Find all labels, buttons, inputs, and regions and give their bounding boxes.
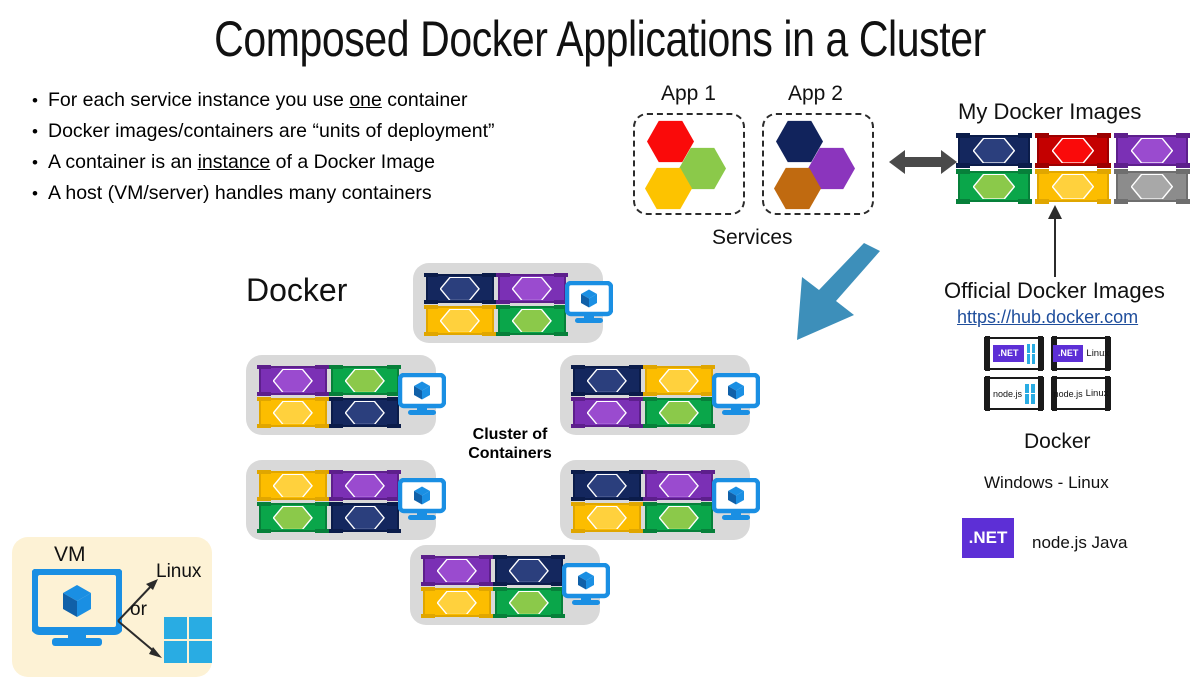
host-monitor-icon bbox=[562, 563, 610, 607]
container-tile-yellow bbox=[423, 588, 491, 617]
image-tile-navy bbox=[958, 135, 1030, 166]
container-hex-icon bbox=[512, 277, 551, 301]
tile-frame-bar bbox=[1038, 376, 1043, 411]
tile-corner bbox=[571, 470, 585, 475]
container-hex-icon bbox=[1052, 174, 1094, 199]
vm-card: VM Linux or bbox=[12, 537, 212, 677]
list-item: • For each service instance you use one … bbox=[22, 88, 622, 113]
tile-content: node.js bbox=[993, 385, 1035, 402]
vm-linux-label: Linux bbox=[156, 561, 201, 583]
container-hex-icon bbox=[973, 174, 1015, 199]
tile-corner bbox=[643, 397, 657, 402]
tile-corner bbox=[315, 424, 329, 429]
container-hex-icon bbox=[587, 401, 626, 425]
docker-cluster-label: Docker bbox=[246, 272, 347, 309]
tile-corner bbox=[387, 424, 401, 429]
container-hex-icon bbox=[659, 474, 698, 498]
bullet-text: A host (VM/server) handles many containe… bbox=[48, 181, 622, 206]
container-tile-purple bbox=[423, 556, 491, 585]
cluster-node-left-upper[interactable] bbox=[246, 355, 436, 435]
tile-corner bbox=[329, 397, 343, 402]
my-docker-images-grid bbox=[958, 135, 1188, 203]
tile-corner bbox=[1097, 163, 1111, 168]
bullet-text: Docker images/containers are “units of d… bbox=[48, 119, 622, 144]
tile-corner bbox=[1176, 169, 1190, 174]
docker-hub-link[interactable]: https://hub.docker.com bbox=[957, 307, 1138, 328]
tile-corner bbox=[701, 470, 715, 475]
service-hex-brown bbox=[774, 167, 821, 210]
list-item: • A host (VM/server) handles many contai… bbox=[22, 181, 622, 206]
host-monitor-icon bbox=[398, 373, 446, 417]
tile-corner bbox=[1018, 133, 1032, 138]
tile-corner bbox=[421, 614, 435, 619]
tile-corner bbox=[571, 365, 585, 370]
container-hex-icon bbox=[1131, 174, 1173, 199]
container-hex-icon bbox=[509, 591, 548, 615]
tile-corner bbox=[1176, 133, 1190, 138]
tile-corner bbox=[629, 502, 643, 507]
tile-corner bbox=[493, 587, 507, 592]
tile-corner bbox=[257, 502, 271, 507]
tile-corner bbox=[387, 470, 401, 475]
windows-logo-icon bbox=[1025, 384, 1035, 404]
page-title: Composed Docker Applications in a Cluste… bbox=[108, 10, 1092, 68]
tile-corner bbox=[643, 470, 657, 475]
container-tile-green bbox=[645, 398, 713, 427]
tile-corner bbox=[387, 365, 401, 370]
container-tile-navy bbox=[426, 274, 494, 303]
container-tile-navy bbox=[573, 366, 641, 395]
bullet-dot-icon: • bbox=[22, 119, 48, 144]
tile-corner bbox=[571, 502, 585, 507]
container-hex-icon bbox=[659, 401, 698, 425]
container-tile-navy bbox=[495, 556, 563, 585]
app2-service-box bbox=[762, 113, 874, 215]
tile-corner bbox=[1097, 133, 1111, 138]
tile-corner bbox=[629, 470, 643, 475]
container-hex-icon bbox=[587, 474, 626, 498]
cluster-label-line1: Cluster of bbox=[450, 425, 570, 444]
tile-corner bbox=[1018, 169, 1032, 174]
tile-corner bbox=[479, 587, 493, 592]
tile-corner bbox=[1114, 169, 1128, 174]
linux-label: Linux bbox=[1086, 388, 1109, 399]
container-hex-icon bbox=[587, 506, 626, 530]
bullet-text: For each service instance you use one co… bbox=[48, 88, 622, 113]
tile-corner bbox=[1176, 163, 1190, 168]
tile-corner bbox=[571, 424, 585, 429]
container-hex-icon bbox=[273, 474, 312, 498]
container-hex-icon bbox=[437, 559, 476, 583]
tile-corner bbox=[482, 332, 496, 337]
tile-corner bbox=[554, 332, 568, 337]
container-tile-yellow bbox=[645, 366, 713, 395]
cluster-node-bottom[interactable] bbox=[410, 545, 600, 625]
tile-corner bbox=[257, 397, 271, 402]
official-tile-node-windows: node.js bbox=[984, 377, 1044, 410]
big-blue-arrow-icon bbox=[788, 243, 883, 348]
tile-corner bbox=[315, 397, 329, 402]
tile-corner bbox=[424, 305, 438, 310]
list-item: • A container is an instance of a Docker… bbox=[22, 150, 622, 175]
docker-label-right: Docker bbox=[1024, 430, 1091, 454]
cluster-node-top[interactable] bbox=[413, 263, 603, 343]
os-line-label: Windows - Linux bbox=[984, 473, 1109, 493]
dotnet-badge: .NET bbox=[962, 518, 1014, 558]
tile-corner bbox=[315, 529, 329, 534]
tile-frame-bar bbox=[985, 376, 990, 411]
tile-corner bbox=[479, 555, 493, 560]
tile-corner bbox=[482, 305, 496, 310]
stack-line-label: node.js Java bbox=[1032, 533, 1127, 553]
tile-frame-bar bbox=[1038, 336, 1043, 371]
tile-corner bbox=[1035, 169, 1049, 174]
container-tile-yellow bbox=[259, 398, 327, 427]
nodejs-label: node.js bbox=[1054, 389, 1083, 399]
up-arrow-icon bbox=[1044, 205, 1066, 277]
windows-logo-icon bbox=[1027, 344, 1035, 364]
tile-corner bbox=[643, 365, 657, 370]
tile-corner bbox=[1097, 199, 1111, 204]
app2-label: App 2 bbox=[788, 82, 843, 106]
tile-corner bbox=[554, 273, 568, 278]
tile-corner bbox=[329, 365, 343, 370]
container-tile-yellow bbox=[573, 503, 641, 532]
windows-logo-icon bbox=[164, 617, 212, 663]
container-tile-navy bbox=[331, 398, 399, 427]
image-tile-red bbox=[1037, 135, 1109, 166]
tile-corner bbox=[629, 529, 643, 534]
tile-content: .NETLinux bbox=[1060, 345, 1102, 362]
dotnet-badge-small: .NET bbox=[1053, 345, 1084, 362]
tile-corner bbox=[1035, 199, 1049, 204]
tile-corner bbox=[643, 502, 657, 507]
official-docker-images-title: Official Docker Images bbox=[944, 278, 1165, 304]
my-docker-images-title: My Docker Images bbox=[958, 99, 1141, 125]
image-tile-purple bbox=[1116, 135, 1188, 166]
container-hex-icon bbox=[1131, 138, 1173, 163]
tile-corner bbox=[571, 529, 585, 534]
tile-corner bbox=[387, 529, 401, 534]
tile-corner bbox=[421, 587, 435, 592]
tile-corner bbox=[257, 529, 271, 534]
container-hex-icon bbox=[273, 506, 312, 530]
tile-corner bbox=[493, 555, 507, 560]
image-tile-yellow bbox=[1037, 171, 1109, 202]
tile-corner bbox=[629, 397, 643, 402]
tile-content: node.jsLinux bbox=[1060, 385, 1102, 402]
container-hex-icon bbox=[437, 591, 476, 615]
tile-corner bbox=[421, 555, 435, 560]
tile-corner bbox=[1097, 169, 1111, 174]
official-tile-node-linux: node.jsLinux bbox=[1051, 377, 1111, 410]
tile-corner bbox=[956, 163, 970, 168]
container-tile-navy bbox=[331, 503, 399, 532]
tile-corner bbox=[571, 397, 585, 402]
services-caption: Services bbox=[712, 226, 793, 250]
app1-label: App 1 bbox=[661, 82, 716, 106]
container-hex-icon bbox=[273, 401, 312, 425]
official-images-grid: .NET.NETLinuxnode.jsnode.jsLinux bbox=[984, 337, 1109, 411]
tile-corner bbox=[257, 470, 271, 475]
container-tile-yellow bbox=[259, 471, 327, 500]
container-tile-purple bbox=[331, 471, 399, 500]
tile-corner bbox=[424, 273, 438, 278]
tile-corner bbox=[1018, 199, 1032, 204]
tile-corner bbox=[956, 133, 970, 138]
container-tile-green bbox=[498, 306, 566, 335]
tile-frame-bar bbox=[985, 336, 990, 371]
tile-corner bbox=[329, 470, 343, 475]
tile-corner bbox=[424, 332, 438, 337]
bidirectional-arrow-icon bbox=[889, 147, 957, 177]
vm-label: VM bbox=[54, 543, 86, 567]
tile-corner bbox=[315, 365, 329, 370]
cluster-center-label: Cluster of Containers bbox=[450, 425, 570, 463]
image-tile-gray bbox=[1116, 171, 1188, 202]
host-monitor-icon bbox=[712, 373, 760, 417]
tile-corner bbox=[956, 169, 970, 174]
container-tile-green bbox=[331, 366, 399, 395]
container-hex-icon bbox=[659, 369, 698, 393]
nodejs-label: node.js bbox=[993, 389, 1022, 399]
container-hex-icon bbox=[659, 506, 698, 530]
container-tile-purple bbox=[573, 398, 641, 427]
service-hex-yellow bbox=[645, 167, 692, 210]
tile-corner bbox=[701, 424, 715, 429]
tile-corner bbox=[629, 424, 643, 429]
cluster-node-left-lower[interactable] bbox=[246, 460, 436, 540]
tile-corner bbox=[482, 273, 496, 278]
bullet-dot-icon: • bbox=[22, 181, 48, 206]
container-hex-icon bbox=[273, 369, 312, 393]
tile-corner bbox=[1114, 199, 1128, 204]
tile-corner bbox=[315, 470, 329, 475]
image-tile-green bbox=[958, 171, 1030, 202]
tile-corner bbox=[329, 424, 343, 429]
tile-corner bbox=[551, 614, 565, 619]
tile-corner bbox=[329, 529, 343, 534]
container-hex-icon bbox=[345, 369, 384, 393]
container-tile-green bbox=[259, 503, 327, 532]
vm-monitor-icon bbox=[32, 569, 122, 647]
bullet-dot-icon: • bbox=[22, 88, 48, 113]
tile-corner bbox=[1035, 133, 1049, 138]
container-hex-icon bbox=[587, 369, 626, 393]
container-tile-green bbox=[495, 588, 563, 617]
bullet-dot-icon: • bbox=[22, 150, 48, 175]
host-monitor-icon bbox=[712, 478, 760, 522]
tile-corner bbox=[1176, 199, 1190, 204]
list-item: • Docker images/containers are “units of… bbox=[22, 119, 622, 144]
dotnet-badge-small: .NET bbox=[993, 345, 1024, 362]
tile-corner bbox=[643, 529, 657, 534]
tile-corner bbox=[643, 424, 657, 429]
container-hex-icon bbox=[345, 506, 384, 530]
container-tile-purple bbox=[498, 274, 566, 303]
container-hex-icon bbox=[1052, 138, 1094, 163]
container-hex-icon bbox=[345, 401, 384, 425]
cluster-node-right-upper[interactable] bbox=[560, 355, 750, 435]
vm-or-label: or bbox=[130, 599, 147, 621]
tile-corner bbox=[701, 365, 715, 370]
container-hex-icon bbox=[345, 474, 384, 498]
container-tile-purple bbox=[259, 366, 327, 395]
container-hex-icon bbox=[440, 277, 479, 301]
official-tile-dotnet-windows: .NET bbox=[984, 337, 1044, 370]
bullet-list: • For each service instance you use one … bbox=[22, 88, 622, 212]
container-hex-icon bbox=[973, 138, 1015, 163]
host-monitor-icon bbox=[565, 281, 613, 325]
official-tile-dotnet-linux: .NETLinux bbox=[1051, 337, 1111, 370]
container-hex-icon bbox=[512, 309, 551, 333]
container-hex-icon bbox=[509, 559, 548, 583]
container-tile-yellow bbox=[426, 306, 494, 335]
container-tile-purple bbox=[645, 471, 713, 500]
container-hex-icon bbox=[440, 309, 479, 333]
container-tile-green bbox=[645, 503, 713, 532]
tile-corner bbox=[257, 365, 271, 370]
cluster-label-line2: Containers bbox=[450, 444, 570, 463]
tile-corner bbox=[496, 305, 510, 310]
tile-corner bbox=[1018, 163, 1032, 168]
tile-content: .NET bbox=[993, 345, 1035, 362]
tile-corner bbox=[493, 614, 507, 619]
tile-corner bbox=[315, 502, 329, 507]
tile-corner bbox=[479, 614, 493, 619]
cluster-node-right-lower[interactable] bbox=[560, 460, 750, 540]
bullet-text: A container is an instance of a Docker I… bbox=[48, 150, 622, 175]
linux-label: Linux bbox=[1086, 348, 1109, 359]
tile-corner bbox=[1114, 133, 1128, 138]
tile-corner bbox=[496, 273, 510, 278]
tile-corner bbox=[496, 332, 510, 337]
app1-service-box bbox=[633, 113, 745, 215]
tile-corner bbox=[551, 555, 565, 560]
tile-corner bbox=[956, 199, 970, 204]
tile-corner bbox=[329, 502, 343, 507]
container-tile-navy bbox=[573, 471, 641, 500]
tile-corner bbox=[701, 529, 715, 534]
tile-corner bbox=[257, 424, 271, 429]
tile-corner bbox=[1035, 163, 1049, 168]
tile-corner bbox=[1114, 163, 1128, 168]
host-monitor-icon bbox=[398, 478, 446, 522]
tile-corner bbox=[629, 365, 643, 370]
